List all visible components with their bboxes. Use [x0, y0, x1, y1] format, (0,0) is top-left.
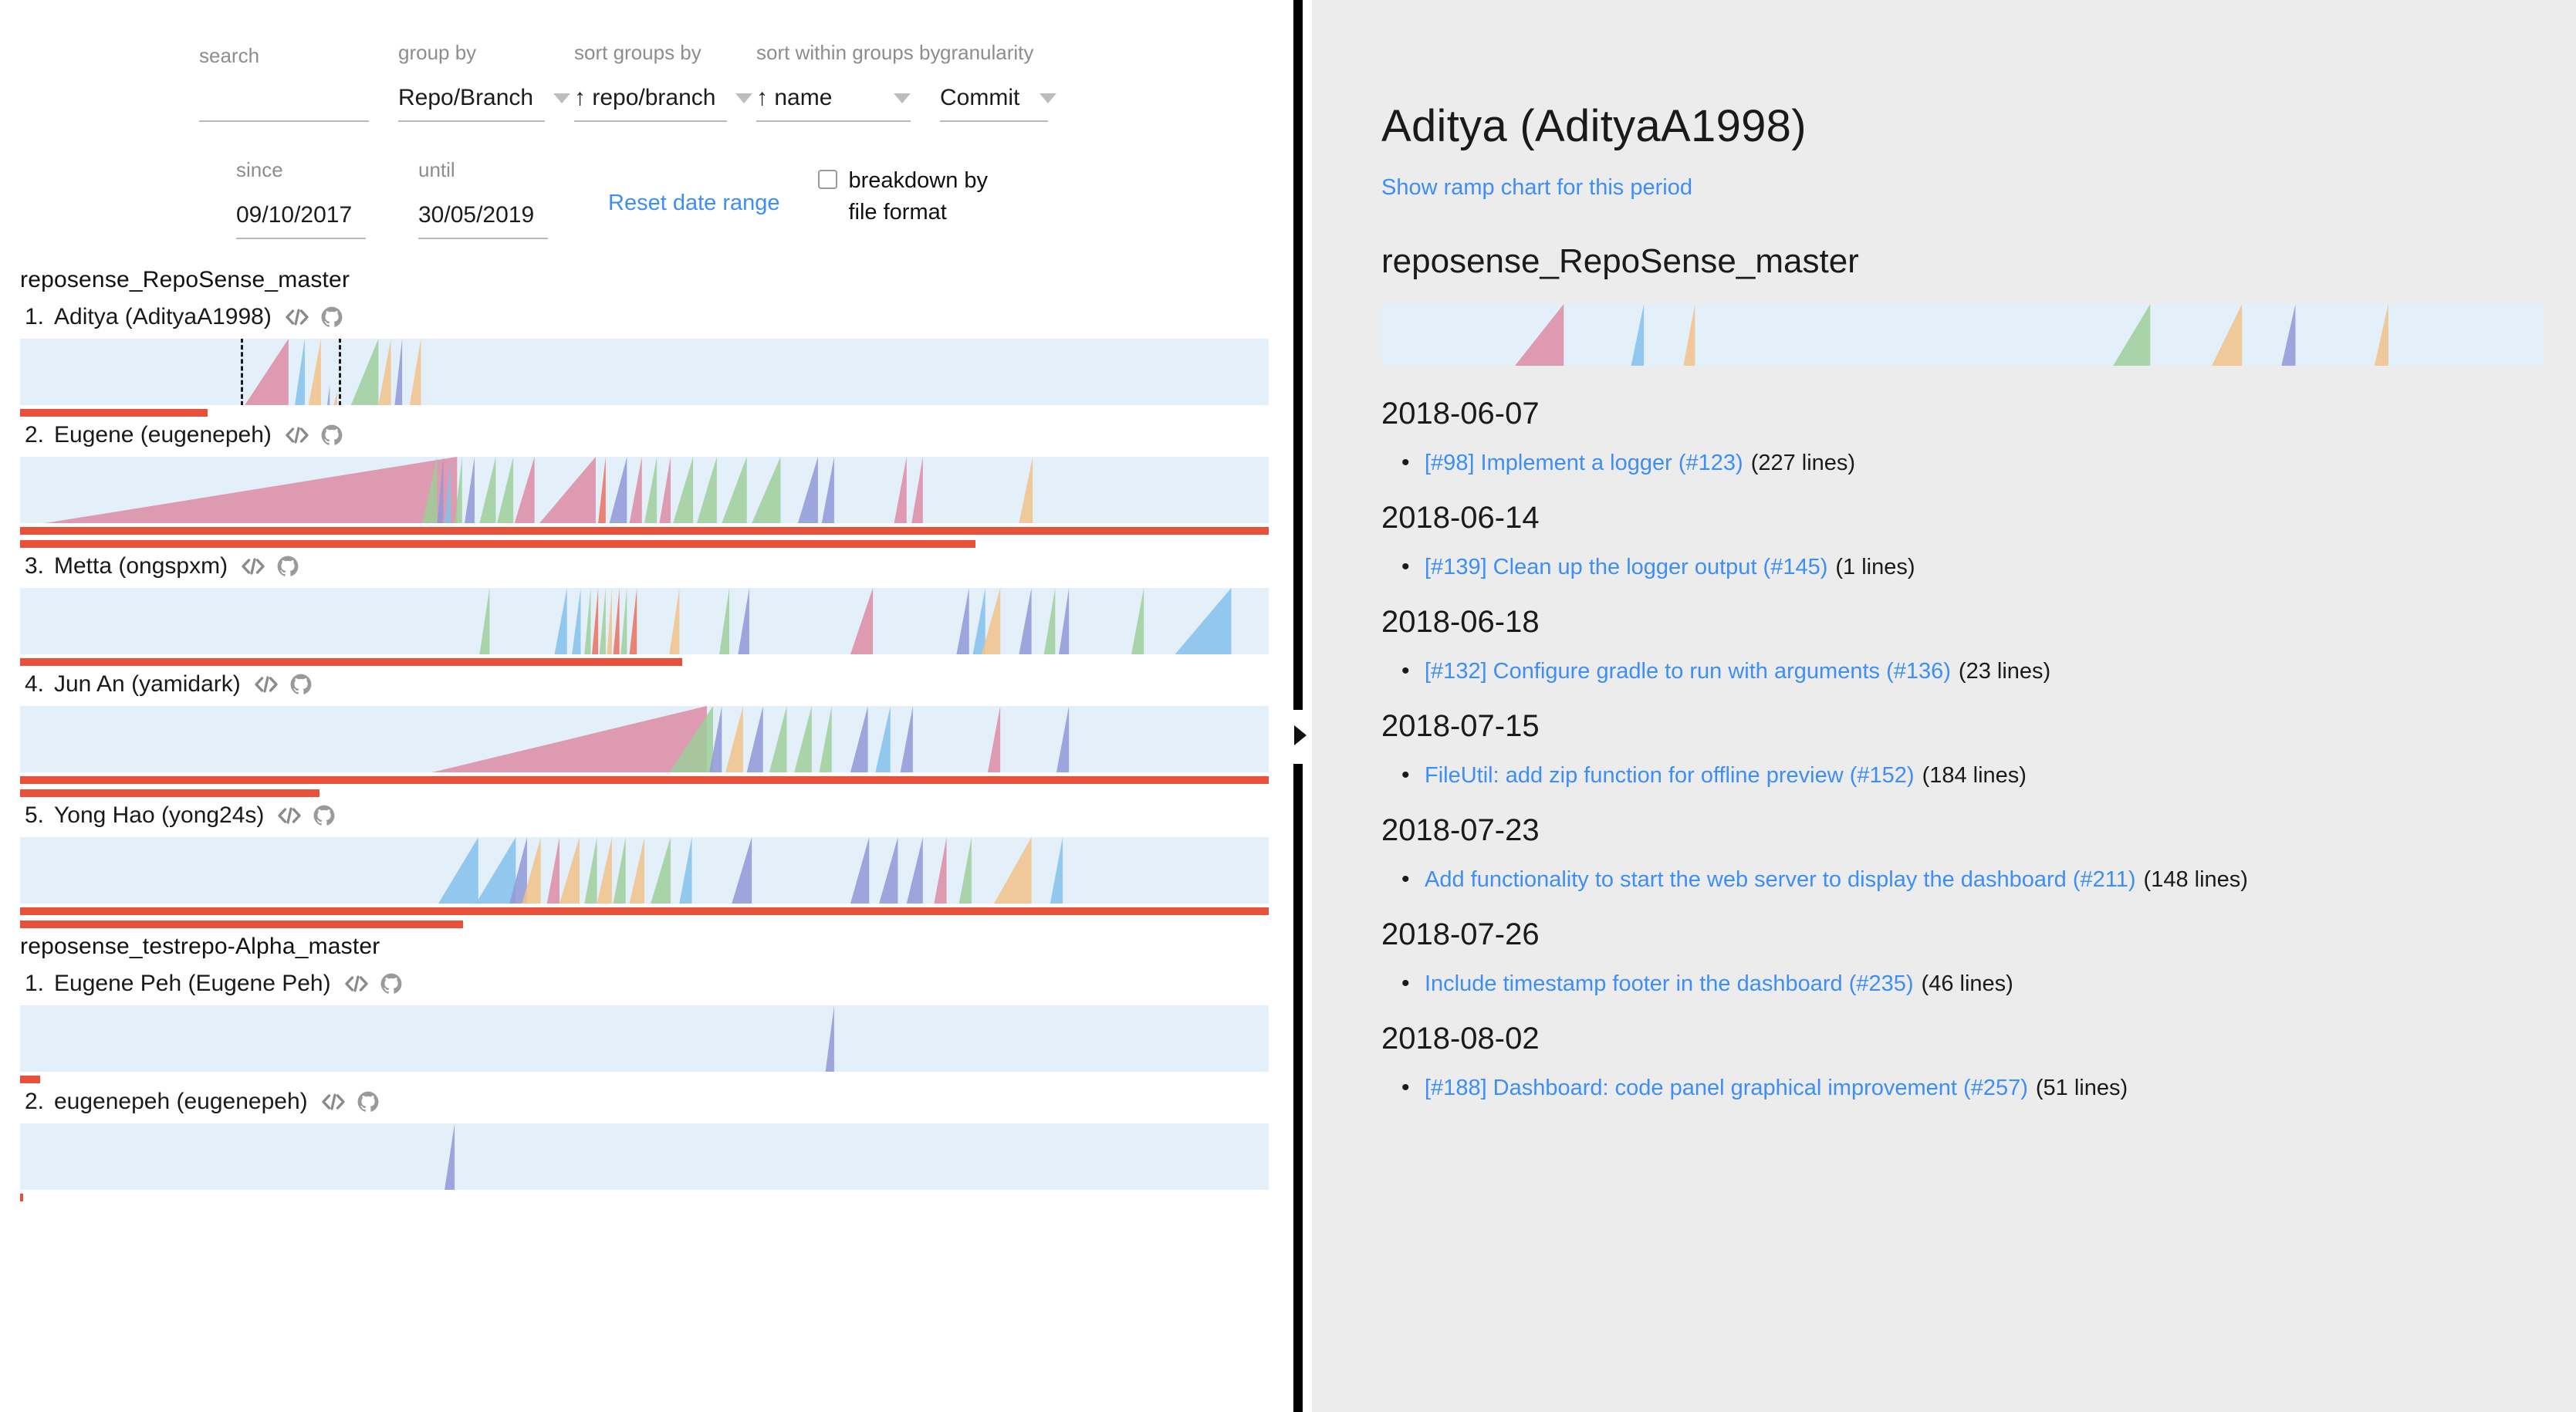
commit-message-link[interactable]: [#132] Configure gradle to run with argu… [1425, 659, 1951, 684]
commit-list-item: [#139] Clean up the logger output (#145)… [1425, 549, 2530, 585]
commit-list-item: [#132] Configure gradle to run with argu… [1425, 654, 2530, 689]
author-name[interactable]: eugenepeh (eugenepeh) [54, 1089, 308, 1115]
commit-message-link[interactable]: [#98] Implement a logger (#123) [1425, 451, 1743, 475]
contribution-bar [20, 1076, 40, 1083]
author-name[interactable]: Yong Hao (yong24s) [54, 802, 264, 829]
filter-toolbar: search group by Repo/Branch sort groups … [0, 0, 1293, 239]
commit-date-heading: 2018-06-18 [1381, 605, 2530, 640]
author-header: 2.Eugene (eugenepeh) [20, 422, 1293, 448]
until-label: until [418, 157, 548, 182]
code-icon[interactable] [322, 1093, 345, 1111]
commit-group: FileUtil: add zip function for offline p… [1381, 758, 2530, 793]
author-header: 4.Jun An (yamidark) [20, 671, 1293, 698]
github-icon[interactable] [321, 424, 343, 446]
github-icon[interactable] [380, 973, 402, 995]
github-icon[interactable] [277, 556, 299, 577]
author-block: 2.Eugene (eugenepeh) [20, 422, 1293, 548]
author-block: 2.eugenepeh (eugenepeh) [20, 1089, 1293, 1201]
divider-bar-top [1293, 0, 1303, 710]
reset-date-range-link[interactable]: Reset date range [608, 191, 779, 216]
commit-group: [#98] Implement a logger (#123)(227 line… [1381, 445, 2530, 481]
commit-list-item: Include timestamp footer in the dashboar… [1425, 966, 2530, 1002]
commit-line-count: (23 lines) [1959, 659, 2050, 684]
since-field: since 09/10/2017 [236, 157, 366, 239]
contribution-bar [20, 658, 682, 666]
granularity-label: granularity [940, 40, 1048, 65]
author-header: 1.Aditya (AdityaA1998) [20, 304, 1293, 330]
commit-list-item: [#98] Implement a logger (#123)(227 line… [1425, 445, 2530, 481]
group-by-select[interactable]: Repo/Branch [398, 85, 545, 122]
author-ramp-chart[interactable] [20, 457, 1269, 523]
author-rank: 3. [25, 553, 54, 579]
search-input[interactable] [199, 88, 369, 122]
author-name[interactable]: Eugene Peh (Eugene Peh) [54, 971, 331, 997]
sort-groups-by-value: ↑ repo/branch [574, 85, 715, 111]
commit-message-link[interactable]: Include timestamp footer in the dashboar… [1425, 971, 1914, 996]
author-detail-panel: Aditya (AdityaA1998) Show ramp chart for… [1312, 0, 2576, 1412]
sort-groups-by-field: sort groups by ↑ repo/branch [574, 40, 727, 122]
github-icon[interactable] [357, 1091, 379, 1113]
author-header: 2.eugenepeh (eugenepeh) [20, 1089, 1293, 1115]
group-by-field: group by Repo/Branch [398, 40, 545, 122]
since-date-input[interactable]: 09/10/2017 [236, 202, 366, 239]
code-icon[interactable] [278, 806, 301, 825]
author-rank: 2. [25, 1089, 54, 1115]
contribution-bars [20, 772, 1293, 797]
toolbar-row-filters: search group by Repo/Branch sort groups … [199, 40, 1293, 122]
until-field: until 30/05/2019 [418, 157, 548, 239]
chevron-down-icon [894, 93, 911, 103]
commit-date-heading: 2018-08-02 [1381, 1022, 2530, 1056]
author-name[interactable]: Jun An (yamidark) [54, 671, 241, 698]
since-value: 09/10/2017 [236, 202, 352, 228]
commit-message-link[interactable]: [#188] Dashboard: code panel graphical i… [1425, 1076, 2028, 1100]
contribution-bar [20, 789, 319, 797]
commit-message-link[interactable]: FileUtil: add zip function for offline p… [1425, 763, 1915, 788]
repo-group: reposense_RepoSense_master1.Aditya (Adit… [20, 267, 1293, 928]
author-block: 3.Metta (ongspxm) [20, 553, 1293, 666]
author-ramp-chart[interactable] [20, 339, 1269, 405]
contribution-bar [20, 921, 463, 928]
github-icon[interactable] [290, 674, 312, 695]
author-rank: 2. [25, 422, 54, 448]
commit-group: Add functionality to start the web serve… [1381, 862, 2530, 897]
commit-group: [#139] Clean up the logger output (#145)… [1381, 549, 2530, 585]
commit-list: 2018-06-07[#98] Implement a logger (#123… [1381, 397, 2530, 1106]
author-rank: 1. [25, 971, 54, 997]
panel-divider[interactable] [1293, 0, 1312, 1412]
sort-within-groups-by-label: sort within groups by [756, 40, 911, 65]
panel-ramp-chart[interactable] [1381, 304, 2543, 366]
group-by-label: group by [398, 40, 545, 65]
contribution-bar [20, 907, 1269, 915]
commit-message-link[interactable]: [#139] Clean up the logger output (#145) [1425, 555, 1827, 579]
repo-group-title: reposense_RepoSense_master [20, 267, 1293, 293]
code-icon[interactable] [286, 308, 309, 326]
chevron-down-icon [735, 93, 752, 103]
author-header: 3.Metta (ongspxm) [20, 553, 1293, 579]
contribution-bars [20, 405, 1293, 417]
author-block: 1.Aditya (AdityaA1998) [20, 304, 1293, 417]
show-ramp-chart-link[interactable]: Show ramp chart for this period [1381, 175, 1692, 201]
contribution-bar [20, 1194, 23, 1201]
author-block: 1.Eugene Peh (Eugene Peh) [20, 971, 1293, 1083]
chevron-down-icon [553, 93, 570, 103]
author-header: 1.Eugene Peh (Eugene Peh) [20, 971, 1293, 997]
until-date-input[interactable]: 30/05/2019 [418, 202, 548, 239]
commit-line-count: (184 lines) [1922, 763, 2027, 788]
commit-line-count: (46 lines) [1922, 971, 2013, 996]
github-icon[interactable] [313, 805, 335, 826]
commit-list-item: [#188] Dashboard: code panel graphical i… [1425, 1070, 2530, 1106]
divider-bar-bottom [1293, 764, 1303, 1412]
author-block: 4.Jun An (yamidark) [20, 671, 1293, 797]
search-field: search [199, 43, 369, 122]
sort-within-groups-by-field: sort within groups by ↑ name [756, 40, 911, 122]
author-rank: 4. [25, 671, 54, 698]
contribution-bar [20, 527, 1269, 535]
author-header: 5.Yong Hao (yong24s) [20, 802, 1293, 829]
sort-groups-by-label: sort groups by [574, 40, 727, 65]
author-rank: 5. [25, 802, 54, 829]
repo-group: reposense_testrepo-Alpha_master1.Eugene … [20, 934, 1293, 1201]
ramp-chart-area: reposense_RepoSense_master1.Aditya (Adit… [0, 267, 1293, 1201]
commit-date-heading: 2018-06-07 [1381, 397, 2530, 431]
breakdown-label: breakdown by file format [848, 165, 1010, 228]
reposense-dashboard: search group by Repo/Branch sort groups … [0, 0, 2576, 1412]
commit-line-count: (227 lines) [1751, 451, 1855, 475]
commit-group: Include timestamp footer in the dashboar… [1381, 966, 2530, 1002]
author-block: 5.Yong Hao (yong24s) [20, 802, 1293, 928]
sort-within-groups-by-value: ↑ name [756, 85, 832, 111]
author-ramp-chart[interactable] [20, 706, 1269, 772]
group-by-value: Repo/Branch [398, 85, 533, 111]
contribution-bars [20, 523, 1293, 548]
breakdown-by-file-format-toggle[interactable]: breakdown by file format [818, 165, 1010, 228]
author-ramp-chart[interactable] [20, 588, 1269, 654]
granularity-select[interactable]: Commit [940, 85, 1048, 122]
author-ramp-chart[interactable] [20, 1123, 1269, 1190]
commit-date-heading: 2018-06-14 [1381, 501, 2530, 535]
contribution-bars [20, 1072, 1293, 1083]
author-name[interactable]: Aditya (AdityaA1998) [54, 304, 272, 330]
search-label: search [199, 43, 369, 68]
commit-list-item: Add functionality to start the web serve… [1425, 862, 2530, 897]
since-label: since [236, 157, 366, 182]
code-icon[interactable] [242, 557, 265, 576]
panel-title: Aditya (AdityaA1998) [1381, 100, 2530, 152]
commit-list-item: FileUtil: add zip function for offline p… [1425, 758, 2530, 793]
code-icon[interactable] [286, 426, 309, 444]
commit-line-count: (148 lines) [2144, 867, 2248, 892]
collapse-panel-triangle-icon[interactable] [1294, 725, 1307, 745]
contribution-bars [20, 904, 1293, 928]
commit-date-heading: 2018-07-26 [1381, 917, 2530, 952]
author-name[interactable]: Eugene (eugenepeh) [54, 422, 272, 448]
toolbar-row-dates: since 09/10/2017 until 30/05/2019 Reset … [199, 157, 1293, 239]
contribution-bar [20, 776, 1269, 784]
code-icon[interactable] [255, 675, 278, 694]
code-icon[interactable] [345, 975, 368, 993]
contribution-bar [20, 540, 975, 548]
commit-date-heading: 2018-07-23 [1381, 813, 2530, 848]
commit-message-link[interactable]: Add functionality to start the web serve… [1425, 867, 2136, 892]
commit-date-heading: 2018-07-15 [1381, 709, 2530, 744]
contribution-bars [20, 1190, 1293, 1201]
commit-group: [#132] Configure gradle to run with argu… [1381, 654, 2530, 689]
author-rank: 1. [25, 304, 54, 330]
chevron-down-icon [1040, 93, 1056, 103]
breakdown-checkbox[interactable] [818, 170, 837, 189]
until-value: 30/05/2019 [418, 202, 534, 228]
author-name[interactable]: Metta (ongspxm) [54, 553, 228, 579]
github-icon[interactable] [321, 306, 343, 328]
author-ramp-chart[interactable] [20, 837, 1269, 904]
contribution-bar [20, 409, 208, 417]
left-panel: search group by Repo/Branch sort groups … [0, 0, 1293, 1412]
sort-groups-by-select[interactable]: ↑ repo/branch [574, 85, 727, 122]
author-ramp-chart[interactable] [20, 1005, 1269, 1072]
commit-group: [#188] Dashboard: code panel graphical i… [1381, 1070, 2530, 1106]
granularity-value: Commit [940, 85, 1019, 111]
commit-line-count: (1 lines) [1835, 555, 1915, 579]
repo-group-title: reposense_testrepo-Alpha_master [20, 934, 1293, 960]
sort-within-groups-by-select[interactable]: ↑ name [756, 85, 911, 122]
contribution-bars [20, 654, 1293, 666]
granularity-field: granularity Commit [940, 40, 1048, 122]
commit-line-count: (51 lines) [2036, 1076, 2128, 1100]
panel-repo-name: reposense_RepoSense_master [1381, 242, 2530, 281]
